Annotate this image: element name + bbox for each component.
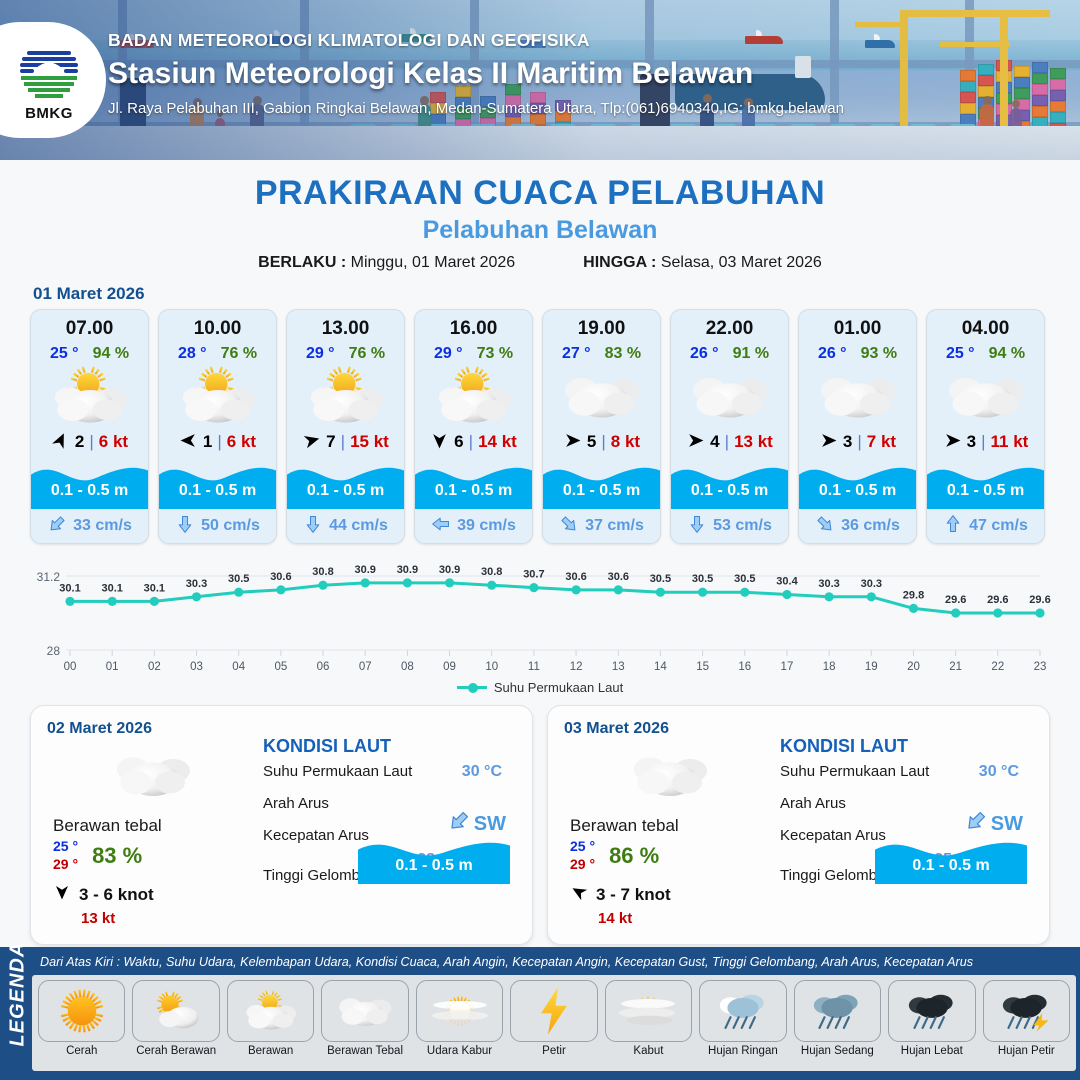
hourly-card[interactable]: 16.00 29 ° 73 % 6 | 14 kt 0.1 - 0.5 m bbox=[414, 309, 533, 544]
card-current-speed: 36 cm/s bbox=[841, 517, 900, 535]
card-separator: | bbox=[725, 432, 729, 452]
panel-wind-direction-arrow-icon bbox=[53, 883, 71, 906]
valid-until-label: HINGGA : bbox=[583, 254, 656, 271]
daily-panel[interactable]: 03 Maret 2026 Berawan tebal 25 ° 29 ° 86… bbox=[547, 705, 1050, 945]
legend-item-label: Cerah Berawan bbox=[132, 1045, 219, 1057]
current-direction-arrow-icon bbox=[47, 514, 67, 539]
card-wave-band: 0.1 - 0.5 m bbox=[159, 457, 276, 509]
card-wave-height: 0.1 - 0.5 m bbox=[543, 482, 660, 500]
card-wave-height: 0.1 - 0.5 m bbox=[287, 482, 404, 500]
card-humidity: 76 % bbox=[349, 345, 385, 363]
page-title: PRAKIRAAN CUACA PELABUHAN bbox=[0, 174, 1080, 213]
card-temperature: 27 ° bbox=[562, 345, 591, 363]
panel-row-label: Suhu Permukaan Laut bbox=[263, 763, 412, 780]
card-wind-direction: 5 bbox=[587, 432, 596, 452]
lightning-icon bbox=[510, 980, 597, 1042]
bmkg-logo-mark bbox=[13, 38, 85, 104]
svg-text:30.5: 30.5 bbox=[650, 573, 671, 585]
bmkg-logo-text: BMKG bbox=[6, 105, 92, 122]
svg-text:11: 11 bbox=[528, 661, 540, 673]
panel-gust: 13 kt bbox=[81, 910, 253, 927]
panel-wave-band: 0.1 - 0.5 m bbox=[358, 832, 510, 884]
svg-text:30.8: 30.8 bbox=[312, 566, 333, 578]
wind-direction-arrow-icon bbox=[686, 431, 705, 454]
panel-wind-range: 3 - 6 knot bbox=[79, 885, 154, 905]
svg-text:17: 17 bbox=[781, 661, 794, 673]
svg-text:05: 05 bbox=[274, 661, 287, 673]
moderate-rain-icon bbox=[794, 980, 881, 1042]
card-wind: 6 | 14 kt bbox=[415, 427, 532, 457]
legend-item-label: Hujan Petir bbox=[983, 1045, 1070, 1057]
cloud-icon bbox=[570, 746, 770, 804]
card-temperature: 29 ° bbox=[434, 345, 463, 363]
svg-text:30.9: 30.9 bbox=[354, 564, 375, 576]
sun-small-cloud-icon bbox=[132, 980, 219, 1042]
card-time: 16.00 bbox=[415, 310, 532, 340]
svg-text:30.9: 30.9 bbox=[439, 564, 460, 576]
panel-row-label: Arah Arus bbox=[263, 795, 329, 812]
legend-item: Udara Kabur bbox=[416, 980, 503, 1069]
panel-row-label: Suhu Permukaan Laut bbox=[780, 763, 929, 780]
bmkg-logo: BMKG bbox=[0, 22, 106, 138]
legend-note: Dari Atas Kiri : Waktu, Suhu Udara, Kele… bbox=[32, 947, 1076, 975]
panel-gust: 14 kt bbox=[598, 910, 770, 927]
card-time: 10.00 bbox=[159, 310, 276, 340]
hourly-card[interactable]: 10.00 28 ° 76 % 1 | 6 kt 0.1 - 0.5 m bbox=[158, 309, 277, 544]
legend-item: Hujan Sedang bbox=[794, 980, 881, 1069]
cloud-icon bbox=[927, 365, 1044, 427]
legend-item-label: Hujan Ringan bbox=[699, 1045, 786, 1057]
card-time: 07.00 bbox=[31, 310, 148, 340]
card-temperature: 28 ° bbox=[178, 345, 207, 363]
card-wind-direction: 3 bbox=[967, 432, 976, 452]
card-time: 19.00 bbox=[543, 310, 660, 340]
card-wind: 7 | 15 kt bbox=[287, 427, 404, 457]
cloud-icon bbox=[799, 365, 916, 427]
card-current-speed: 39 cm/s bbox=[457, 517, 516, 535]
svg-text:14: 14 bbox=[654, 661, 667, 673]
svg-text:30.3: 30.3 bbox=[861, 578, 882, 590]
fog-icon bbox=[605, 980, 692, 1042]
card-separator: | bbox=[981, 432, 985, 452]
svg-text:28: 28 bbox=[47, 644, 61, 658]
sun-cloud-icon bbox=[415, 365, 532, 427]
svg-text:30.9: 30.9 bbox=[397, 564, 418, 576]
card-current-speed: 50 cm/s bbox=[201, 517, 260, 535]
panel-wave-height: 0.1 - 0.5 m bbox=[875, 857, 1027, 875]
card-gust: 14 kt bbox=[478, 432, 517, 452]
card-temperature: 25 ° bbox=[946, 345, 975, 363]
svg-text:04: 04 bbox=[232, 661, 245, 673]
card-separator: | bbox=[217, 432, 221, 452]
card-wave-band: 0.1 - 0.5 m bbox=[671, 457, 788, 509]
svg-text:13: 13 bbox=[612, 661, 625, 673]
hourly-card[interactable]: 01.00 26 ° 93 % 3 | 7 kt 0.1 - 0.5 m 36 … bbox=[798, 309, 917, 544]
card-wind: 1 | 6 kt bbox=[159, 427, 276, 457]
card-current-speed: 53 cm/s bbox=[713, 517, 772, 535]
valid-from-value: Minggu, 01 Maret 2026 bbox=[351, 254, 516, 271]
card-wind-direction: 4 bbox=[710, 432, 719, 452]
hourly-card[interactable]: 04.00 25 ° 94 % 3 | 11 kt 0.1 - 0.5 m 47… bbox=[926, 309, 1045, 544]
chart-legend-marker bbox=[457, 686, 487, 689]
hourly-card[interactable]: 07.00 25 ° 94 % 2 | 6 kt 0.1 - 0.5 m bbox=[30, 309, 149, 544]
card-wave-height: 0.1 - 0.5 m bbox=[927, 482, 1044, 500]
wind-direction-arrow-icon bbox=[819, 431, 838, 454]
legend-item-label: Hujan Sedang bbox=[794, 1045, 881, 1057]
card-current: 33 cm/s bbox=[31, 509, 148, 543]
card-wave-band: 0.1 - 0.5 m bbox=[799, 457, 916, 509]
legend-section: LEGENDA Dari Atas Kiri : Waktu, Suhu Uda… bbox=[0, 947, 1080, 1080]
svg-text:23: 23 bbox=[1034, 661, 1047, 673]
chart-legend: Suhu Permukaan Laut bbox=[0, 680, 1080, 695]
svg-text:30.1: 30.1 bbox=[144, 582, 165, 594]
card-wind-direction: 6 bbox=[454, 432, 463, 452]
haze-icon bbox=[416, 980, 503, 1042]
svg-text:18: 18 bbox=[823, 661, 836, 673]
svg-text:30.5: 30.5 bbox=[734, 573, 755, 585]
card-wave-height: 0.1 - 0.5 m bbox=[799, 482, 916, 500]
card-current: 44 cm/s bbox=[287, 509, 404, 543]
cloud-icon bbox=[321, 980, 408, 1042]
card-separator: | bbox=[857, 432, 861, 452]
legend-item: Petir bbox=[510, 980, 597, 1069]
legend-item: Hujan Petir bbox=[983, 980, 1070, 1069]
panel-temp-max: 29 ° bbox=[53, 856, 78, 874]
legend-item: Hujan Ringan bbox=[699, 980, 786, 1069]
wind-direction-arrow-icon bbox=[563, 431, 582, 454]
card-separator: | bbox=[89, 432, 93, 452]
svg-text:31.2: 31.2 bbox=[37, 570, 61, 584]
card-gust: 6 kt bbox=[99, 432, 128, 452]
card-humidity: 91 % bbox=[733, 345, 769, 363]
legend-item-label: Cerah bbox=[38, 1045, 125, 1057]
svg-text:29.6: 29.6 bbox=[987, 594, 1008, 606]
current-direction-arrow-icon bbox=[175, 514, 195, 539]
legend-item: Berawan bbox=[227, 980, 314, 1069]
svg-text:30.5: 30.5 bbox=[692, 573, 713, 585]
legend-side-banner: LEGENDA bbox=[0, 947, 32, 1080]
svg-text:15: 15 bbox=[696, 661, 709, 673]
card-time: 22.00 bbox=[671, 310, 788, 340]
sun-cloud-icon bbox=[159, 365, 276, 427]
thunderstorm-icon bbox=[983, 980, 1070, 1042]
svg-text:00: 00 bbox=[64, 661, 77, 673]
svg-text:30.3: 30.3 bbox=[818, 578, 839, 590]
svg-text:30.5: 30.5 bbox=[228, 573, 249, 585]
panel-wave-band: 0.1 - 0.5 m bbox=[875, 832, 1027, 884]
svg-text:30.8: 30.8 bbox=[481, 566, 502, 578]
card-wave-band: 0.1 - 0.5 m bbox=[415, 457, 532, 509]
card-current: 53 cm/s bbox=[671, 509, 788, 543]
sun-cloud-icon bbox=[287, 365, 404, 427]
card-humidity: 94 % bbox=[93, 345, 129, 363]
panel-sst-value: 30 °C bbox=[979, 763, 1019, 781]
header-address: Jl. Raya Pelabuhan III, Gabion Ringkai B… bbox=[108, 100, 844, 117]
card-wind-direction: 3 bbox=[843, 432, 852, 452]
daily-panel[interactable]: 02 Maret 2026 Berawan tebal 25 ° 29 ° 83… bbox=[30, 705, 533, 945]
daily-forecast-panels: 02 Maret 2026 Berawan tebal 25 ° 29 ° 83… bbox=[0, 695, 1080, 945]
card-current: 39 cm/s bbox=[415, 509, 532, 543]
hourly-card[interactable]: 19.00 27 ° 83 % 5 | 8 kt 0.1 - 0.5 m 37 … bbox=[542, 309, 661, 544]
legend-item-label: Kabut bbox=[605, 1045, 692, 1057]
card-temperature: 26 ° bbox=[690, 345, 719, 363]
svg-text:30.1: 30.1 bbox=[101, 582, 122, 594]
current-direction-arrow-icon bbox=[559, 514, 579, 539]
card-wind-direction: 7 bbox=[326, 432, 335, 452]
card-wind: 2 | 6 kt bbox=[31, 427, 148, 457]
svg-text:03: 03 bbox=[190, 661, 203, 673]
card-current-speed: 47 cm/s bbox=[969, 517, 1028, 535]
card-wind: 4 | 13 kt bbox=[671, 427, 788, 457]
wind-direction-arrow-icon bbox=[51, 431, 70, 454]
card-wind: 3 | 7 kt bbox=[799, 427, 916, 457]
card-current-speed: 44 cm/s bbox=[329, 517, 388, 535]
cloud-icon bbox=[671, 365, 788, 427]
card-wave-height: 0.1 - 0.5 m bbox=[159, 482, 276, 500]
panel-sea-title: KONDISI LAUT bbox=[780, 736, 1033, 757]
svg-text:30.6: 30.6 bbox=[565, 571, 586, 583]
svg-text:29.8: 29.8 bbox=[903, 589, 924, 601]
current-direction-arrow-icon bbox=[943, 514, 963, 539]
svg-text:02: 02 bbox=[148, 661, 161, 673]
legend-item: Cerah Berawan bbox=[132, 980, 219, 1069]
sst-chart: 31.2280001020304050607080910111213141516… bbox=[0, 558, 1080, 678]
svg-text:30.7: 30.7 bbox=[523, 569, 544, 581]
panel-temp-max: 29 ° bbox=[570, 856, 595, 874]
card-current: 47 cm/s bbox=[927, 509, 1044, 543]
svg-text:30.3: 30.3 bbox=[186, 578, 207, 590]
legend-item-label: Berawan bbox=[227, 1045, 314, 1057]
panel-condition: Berawan tebal bbox=[53, 816, 253, 836]
card-time: 01.00 bbox=[799, 310, 916, 340]
legend-item-label: Udara Kabur bbox=[416, 1045, 503, 1057]
legend-item-label: Petir bbox=[510, 1045, 597, 1057]
svg-text:20: 20 bbox=[907, 661, 920, 673]
svg-text:30.6: 30.6 bbox=[608, 571, 629, 583]
card-gust: 6 kt bbox=[227, 432, 256, 452]
card-wave-band: 0.1 - 0.5 m bbox=[287, 457, 404, 509]
header-station-name: Stasiun Meteorologi Kelas II Maritim Bel… bbox=[108, 57, 844, 91]
sun-cloud-icon bbox=[31, 365, 148, 427]
card-time: 04.00 bbox=[927, 310, 1044, 340]
current-direction-arrow-icon bbox=[303, 514, 323, 539]
svg-text:19: 19 bbox=[865, 661, 878, 673]
page-header: BMKG BADAN METEOROLOGI KLIMATOLOGI DAN G… bbox=[0, 0, 1080, 160]
svg-text:21: 21 bbox=[949, 661, 962, 673]
svg-text:12: 12 bbox=[570, 661, 583, 673]
wind-direction-arrow-icon bbox=[943, 431, 962, 454]
card-current-speed: 33 cm/s bbox=[73, 517, 132, 535]
card-current: 37 cm/s bbox=[543, 509, 660, 543]
card-wind-direction: 2 bbox=[75, 432, 84, 452]
hourly-forecast-row: 07.00 25 ° 94 % 2 | 6 kt 0.1 - 0.5 m bbox=[0, 309, 1080, 544]
legend-item-label: Berawan Tebal bbox=[321, 1045, 408, 1057]
svg-text:29.6: 29.6 bbox=[945, 594, 966, 606]
card-time: 13.00 bbox=[287, 310, 404, 340]
heavy-rain-icon bbox=[888, 980, 975, 1042]
cloud-icon bbox=[53, 746, 253, 804]
panel-wind-direction-arrow-icon bbox=[570, 883, 588, 906]
card-temperature: 25 ° bbox=[50, 345, 79, 363]
card-wind-direction: 1 bbox=[203, 432, 212, 452]
card-humidity: 76 % bbox=[221, 345, 257, 363]
card-separator: | bbox=[341, 432, 345, 452]
panel-row-label: Kecepatan Arus bbox=[263, 827, 369, 844]
panel-temp-min: 25 ° bbox=[570, 838, 595, 856]
card-current: 50 cm/s bbox=[159, 509, 276, 543]
current-direction-arrow-icon bbox=[431, 514, 451, 539]
card-wave-band: 0.1 - 0.5 m bbox=[927, 457, 1044, 509]
card-wave-band: 0.1 - 0.5 m bbox=[31, 457, 148, 509]
card-gust: 7 kt bbox=[867, 432, 896, 452]
panel-row-label: Kecepatan Arus bbox=[780, 827, 886, 844]
svg-text:30.4: 30.4 bbox=[776, 576, 798, 588]
valid-until-value: Selasa, 03 Maret 2026 bbox=[661, 254, 822, 271]
valid-from-label: BERLAKU : bbox=[258, 254, 346, 271]
card-gust: 13 kt bbox=[734, 432, 773, 452]
card-wave-height: 0.1 - 0.5 m bbox=[31, 482, 148, 500]
hourly-card[interactable]: 22.00 26 ° 91 % 4 | 13 kt 0.1 - 0.5 m 53… bbox=[670, 309, 789, 544]
current-direction-arrow-icon bbox=[687, 514, 707, 539]
svg-text:08: 08 bbox=[401, 661, 414, 673]
svg-text:16: 16 bbox=[738, 661, 751, 673]
panel-humidity: 86 % bbox=[609, 843, 659, 869]
chart-legend-label: Suhu Permukaan Laut bbox=[494, 680, 623, 695]
card-gust: 11 kt bbox=[991, 432, 1029, 452]
page-subtitle: Pelabuhan Belawan bbox=[0, 216, 1080, 245]
card-separator: | bbox=[469, 432, 473, 452]
card-temperature: 26 ° bbox=[818, 345, 847, 363]
legend-item: Kabut bbox=[605, 980, 692, 1069]
hourly-card[interactable]: 13.00 29 ° 76 % 7 | 15 kt 0.1 - 0.5 m bbox=[286, 309, 405, 544]
legend-side-label: LEGENDA bbox=[7, 955, 30, 1047]
wind-direction-arrow-icon bbox=[302, 431, 321, 454]
legend-item: Hujan Lebat bbox=[888, 980, 975, 1069]
panel-humidity: 83 % bbox=[92, 843, 142, 869]
current-direction-arrow-icon bbox=[815, 514, 835, 539]
svg-text:01: 01 bbox=[106, 661, 119, 673]
panel-wind-range: 3 - 7 knot bbox=[596, 885, 671, 905]
legend-item: Berawan Tebal bbox=[321, 980, 408, 1069]
card-humidity: 94 % bbox=[989, 345, 1025, 363]
sun-icon bbox=[38, 980, 125, 1042]
svg-text:07: 07 bbox=[359, 661, 372, 673]
svg-text:06: 06 bbox=[317, 661, 330, 673]
svg-text:29.6: 29.6 bbox=[1029, 594, 1050, 606]
card-wave-height: 0.1 - 0.5 m bbox=[415, 482, 532, 500]
sun-cloud-icon bbox=[227, 980, 314, 1042]
card-humidity: 83 % bbox=[605, 345, 641, 363]
panel-temp-min: 25 ° bbox=[53, 838, 78, 856]
card-humidity: 73 % bbox=[477, 345, 513, 363]
panel-condition: Berawan tebal bbox=[570, 816, 770, 836]
card-wind: 5 | 8 kt bbox=[543, 427, 660, 457]
card-wind: 3 | 11 kt bbox=[927, 427, 1044, 457]
card-separator: | bbox=[601, 432, 605, 452]
hourly-day-label: 01 Maret 2026 bbox=[33, 284, 1080, 304]
svg-text:22: 22 bbox=[991, 661, 1004, 673]
card-current-speed: 37 cm/s bbox=[585, 517, 644, 535]
wind-direction-arrow-icon bbox=[430, 431, 449, 454]
svg-text:30.1: 30.1 bbox=[59, 582, 80, 594]
legend-items: Cerah Cerah Berawan Berawan bbox=[32, 975, 1076, 1071]
panel-sst-value: 30 °C bbox=[462, 763, 502, 781]
wind-direction-arrow-icon bbox=[179, 431, 198, 454]
panel-sea-title: KONDISI LAUT bbox=[263, 736, 516, 757]
light-rain-icon bbox=[699, 980, 786, 1042]
svg-text:10: 10 bbox=[485, 661, 498, 673]
svg-text:09: 09 bbox=[443, 661, 456, 673]
legend-item: Cerah bbox=[38, 980, 125, 1069]
card-wave-height: 0.1 - 0.5 m bbox=[671, 482, 788, 500]
legend-item-label: Hujan Lebat bbox=[888, 1045, 975, 1057]
header-organization: BADAN METEOROLOGI KLIMATOLOGI DAN GEOFIS… bbox=[108, 30, 844, 51]
card-wave-band: 0.1 - 0.5 m bbox=[543, 457, 660, 509]
card-humidity: 93 % bbox=[861, 345, 897, 363]
svg-text:30.6: 30.6 bbox=[270, 571, 291, 583]
card-temperature: 29 ° bbox=[306, 345, 335, 363]
card-gust: 8 kt bbox=[611, 432, 640, 452]
panel-wave-height: 0.1 - 0.5 m bbox=[358, 857, 510, 875]
card-gust: 15 kt bbox=[350, 432, 389, 452]
validity-range: BERLAKU : Minggu, 01 Maret 2026 HINGGA :… bbox=[0, 254, 1080, 272]
card-current: 36 cm/s bbox=[799, 509, 916, 543]
panel-row-label: Arah Arus bbox=[780, 795, 846, 812]
cloud-icon bbox=[543, 365, 660, 427]
